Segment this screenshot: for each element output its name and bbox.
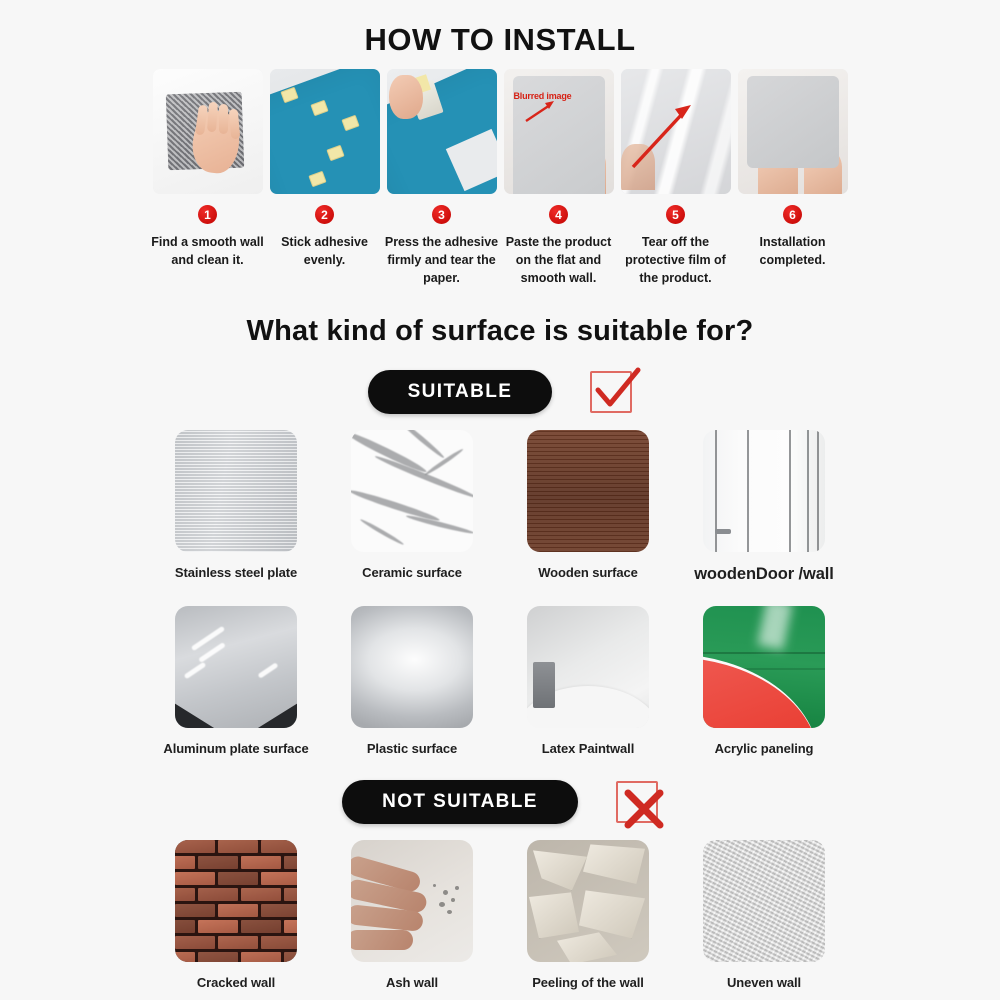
latex-painted-wall-corner-image <box>527 606 649 728</box>
not-suitable-badge-row: NOT SUITABLE <box>0 780 1000 824</box>
surface-cell: Stainless steel plate <box>156 430 316 584</box>
surface-label: Wooden surface <box>538 565 638 580</box>
step-caption: Paste the product on the flat and smooth… <box>500 233 618 287</box>
grey-glossy-plastic-sheet-image <box>351 606 473 728</box>
step-number-badge: 3 <box>432 205 451 224</box>
step-caption: Find a smooth wall and clean it. <box>149 233 267 269</box>
step-number-badge: 6 <box>783 205 802 224</box>
dark-walnut-wood-grain-image <box>527 430 649 552</box>
tearing-protective-film-image <box>621 69 731 194</box>
hand-cleaning-wall-with-cloth-image <box>153 69 263 194</box>
not-suitable-grid: Cracked wall Ash wall Peeling of the wal… <box>0 840 1000 990</box>
surface-cell: Wooden surface <box>508 430 668 584</box>
step-number-badge: 5 <box>666 205 685 224</box>
suitable-badge-row: SUITABLE <box>0 370 1000 414</box>
surface-label: Aluminum plate surface <box>163 741 308 756</box>
install-step-4: Blurred image 4 Paste the product on the… <box>504 69 614 287</box>
rough-uneven-textured-wall-image <box>703 840 825 962</box>
surface-cell: Acrylic paneling <box>684 606 844 756</box>
suitable-grid-row-1: Stainless steel plate Ceramic surface Wo… <box>0 430 1000 584</box>
suitable-grid-row-2: Aluminum plate surface Plastic surface L… <box>0 606 1000 756</box>
surface-label: Stainless steel plate <box>175 565 297 580</box>
surface-cell: Latex Paintwall <box>508 606 668 756</box>
cross-mark-icon <box>618 783 674 839</box>
teal-panel-with-adhesive-squares-image <box>270 69 380 194</box>
surface-cell: Cracked wall <box>156 840 316 990</box>
page-title: HOW TO INSTALL <box>0 0 1000 55</box>
suitable-badge: SUITABLE <box>368 370 553 414</box>
section-title: What kind of surface is suitable for? <box>0 315 1000 348</box>
check-mark-icon <box>586 362 642 418</box>
install-steps: 1 Find a smooth wall and clean it. 2 Sti… <box>0 69 1000 287</box>
surface-cell: Peeling of the wall <box>508 840 668 990</box>
install-step-6: 6 Installation completed. <box>738 69 848 287</box>
surface-cell: Ceramic surface <box>332 430 492 584</box>
white-grooved-wooden-door-image <box>703 430 825 552</box>
step-caption: Tear off the protective film of the prod… <box>617 233 735 287</box>
install-step-1: 1 Find a smooth wall and clean it. <box>153 69 263 287</box>
surface-cell: Aluminum plate surface <box>156 606 316 756</box>
installation-completed-panel-image <box>738 69 848 194</box>
step-caption: Stick adhesive evenly. <box>266 233 384 269</box>
step-number-badge: 1 <box>198 205 217 224</box>
hand-on-dusty-ash-wall-image <box>351 840 473 962</box>
not-suitable-badge: NOT SUITABLE <box>342 780 578 824</box>
peeling-paint-wall-image <box>527 840 649 962</box>
step-number-badge: 2 <box>315 205 334 224</box>
check-mark-box <box>590 371 632 413</box>
surface-label: Latex Paintwall <box>542 741 634 756</box>
surface-cell: Ash wall <box>332 840 492 990</box>
install-step-3: 3 Press the adhesive firmly and tear the… <box>387 69 497 287</box>
surface-label: Ceramic surface <box>362 565 462 580</box>
glossy-aluminum-plate-image <box>175 606 297 728</box>
step-caption: Press the adhesive firmly and tear the p… <box>383 233 501 287</box>
hand-pressing-adhesive-tearing-paper-image <box>387 69 497 194</box>
white-marble-ceramic-texture-image <box>351 430 473 552</box>
surface-cell: woodenDoor /wall <box>684 430 844 584</box>
surface-label: Ash wall <box>386 975 438 990</box>
pasting-product-on-wall-image: Blurred image <box>504 69 614 194</box>
surface-cell: Plastic surface <box>332 606 492 756</box>
green-red-acrylic-panel-image <box>703 606 825 728</box>
step-caption: Installation completed. <box>734 233 852 269</box>
surface-label: Peeling of the wall <box>532 975 644 990</box>
surface-cell: Uneven wall <box>684 840 844 990</box>
brushed-stainless-steel-texture-image <box>175 430 297 552</box>
cross-mark-box <box>616 781 658 823</box>
red-brick-wall-image <box>175 840 297 962</box>
install-step-5: 5 Tear off the protective film of the pr… <box>621 69 731 287</box>
install-step-2: 2 Stick adhesive evenly. <box>270 69 380 287</box>
surface-label: woodenDoor /wall <box>694 565 834 584</box>
surface-label: Plastic surface <box>367 741 457 756</box>
surface-label: Acrylic paneling <box>715 741 814 756</box>
surface-label: Cracked wall <box>197 975 275 990</box>
step-number-badge: 4 <box>549 205 568 224</box>
surface-label: Uneven wall <box>727 975 801 990</box>
